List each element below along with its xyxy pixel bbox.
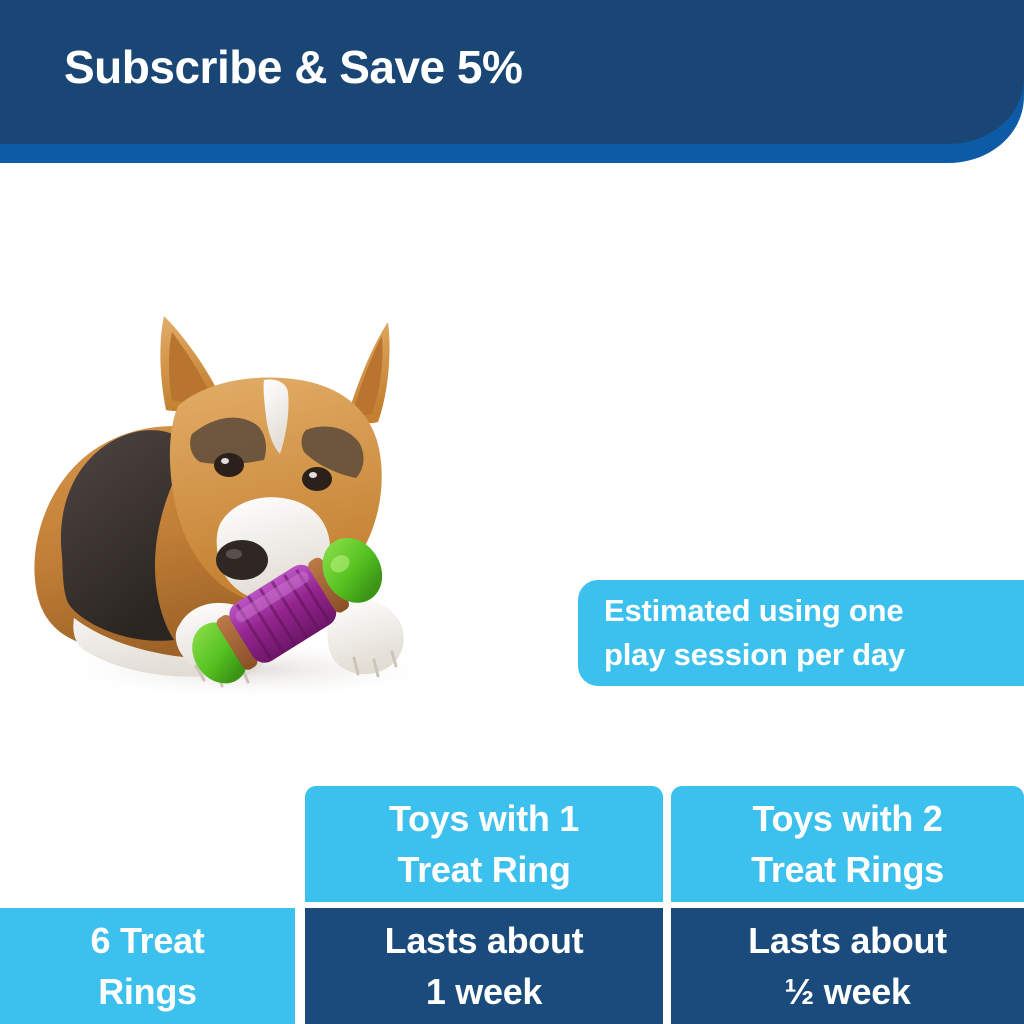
table-header-row: Toys with 1 Treat Ring Toys with 2 Treat… — [0, 786, 1024, 902]
product-photo — [14, 288, 484, 708]
column-header-line-1: Toys with 1 — [389, 793, 579, 844]
column-header-line-2: Treat Rings — [751, 844, 944, 895]
data-cell-line-2: ½ week — [784, 966, 910, 1017]
column-header-line-1: Toys with 2 — [752, 793, 942, 844]
data-cell-line-2: 1 week — [426, 966, 542, 1017]
row-header-6-treat-rings: 6 Treat Rings — [0, 908, 295, 1024]
dog-eye-right — [302, 467, 332, 491]
comparison-table: Toys with 1 Treat Ring Toys with 2 Treat… — [0, 786, 1024, 1024]
column-header-toys-with-1-treat-ring: Toys with 1 Treat Ring — [305, 786, 663, 902]
table-corner-cell — [0, 786, 295, 902]
note-line-1: Estimated using one — [604, 589, 1016, 633]
data-cell-lasts-1-week: Lasts about 1 week — [305, 908, 663, 1024]
data-cell-lasts-half-week: Lasts about ½ week — [671, 908, 1024, 1024]
column-header-line-2: Treat Ring — [397, 844, 570, 895]
estimate-note-banner: Estimated using one play session per day — [578, 580, 1024, 686]
dog-eye-right-shine — [309, 472, 317, 478]
row-header-line-2: Rings — [98, 966, 197, 1017]
column-header-toys-with-2-treat-rings: Toys with 2 Treat Rings — [671, 786, 1024, 902]
dog-eye-left — [214, 453, 244, 477]
dog-nose — [216, 540, 268, 580]
table-data-row: 6 Treat Rings Lasts about 1 week Lasts a… — [0, 908, 1024, 1024]
note-line-2: play session per day — [604, 633, 1016, 677]
row-header-line-1: 6 Treat — [91, 915, 205, 966]
data-cell-line-1: Lasts about — [385, 915, 584, 966]
data-cell-line-1: Lasts about — [748, 915, 947, 966]
page-title: Subscribe & Save 5% — [64, 44, 522, 90]
header-banner: Subscribe & Save 5% — [0, 0, 1024, 168]
dog-nose-shine — [226, 549, 242, 559]
dog-eye-left-shine — [221, 458, 229, 464]
